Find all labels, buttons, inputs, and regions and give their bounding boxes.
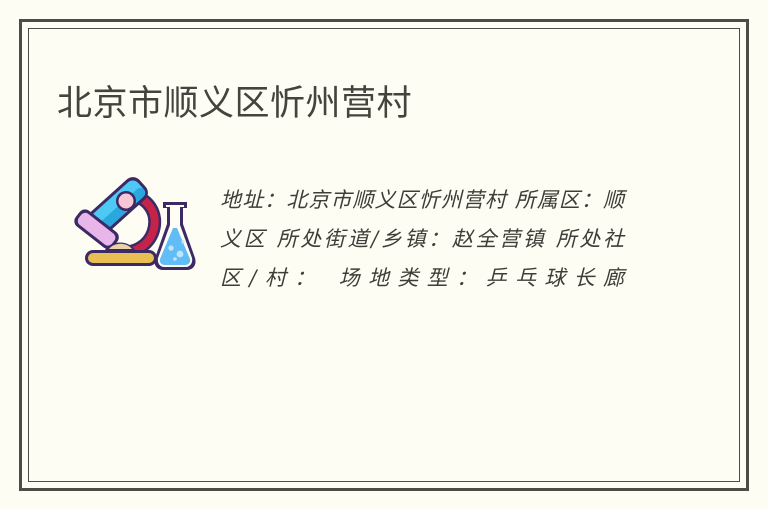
card-content: 地址：北京市顺义区忻州营村 所属区：顺义区 所处街道/乡镇：赵全营镇 所处社区/… xyxy=(57,158,687,408)
page-title: 北京市顺义区忻州营村 xyxy=(57,81,697,127)
microscope-flask-icon xyxy=(67,166,197,286)
venue-details-text: 地址：北京市顺义区忻州营村 所属区：顺义区 所处街道/乡镇：赵全营镇 所处社区/… xyxy=(220,181,625,337)
info-card-page: 北京市顺义区忻州营村 xyxy=(0,0,768,510)
